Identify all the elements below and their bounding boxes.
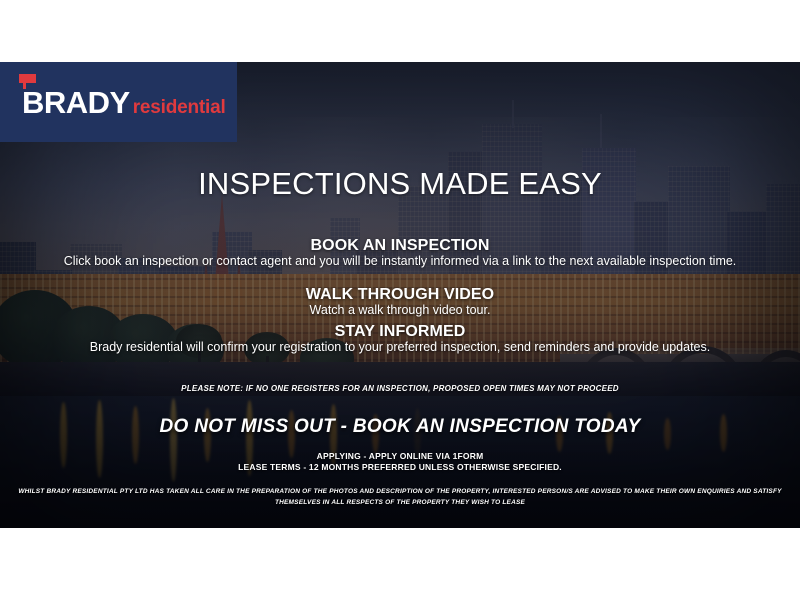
applying-info-text: APPLYING - APPLY ONLINE VIA 1FORM [0,451,800,461]
section-body-stay-informed: Brady residential will confirm your regi… [0,340,800,355]
section-body-walk-through-video: Watch a walk through video tour. [0,303,800,318]
logo-suffix-text: residential [133,98,226,117]
page-title: INSPECTIONS MADE EASY [0,166,800,202]
brady-flag-icon [19,74,36,83]
section-title-walk-through-video: WALK THROUGH VIDEO [0,286,800,304]
section-title-book-an-inspection: BOOK AN INSPECTION [0,237,800,255]
legal-disclaimer-text: WHILST BRADY RESIDENTIAL PTY LTD HAS TAK… [0,486,800,508]
logo-brand-text: BRADY [22,87,130,118]
section-body-book-an-inspection: Click book an inspection or contact agen… [0,254,800,269]
please-note-text: PLEASE NOTE: IF NO ONE REGISTERS FOR AN … [0,384,800,393]
call-to-action-text: DO NOT MISS OUT - BOOK AN INSPECTION TOD… [0,416,800,438]
section-title-stay-informed: STAY INFORMED [0,323,800,341]
promotional-banner-image: BRADY residential INSPECTIONS MADE EASY … [0,62,800,528]
page-frame: BRADY residential INSPECTIONS MADE EASY … [0,0,800,600]
brady-residential-logo[interactable]: BRADY residential [0,62,237,142]
lease-terms-text: LEASE TERMS - 12 MONTHS PREFERRED UNLESS… [0,462,800,472]
